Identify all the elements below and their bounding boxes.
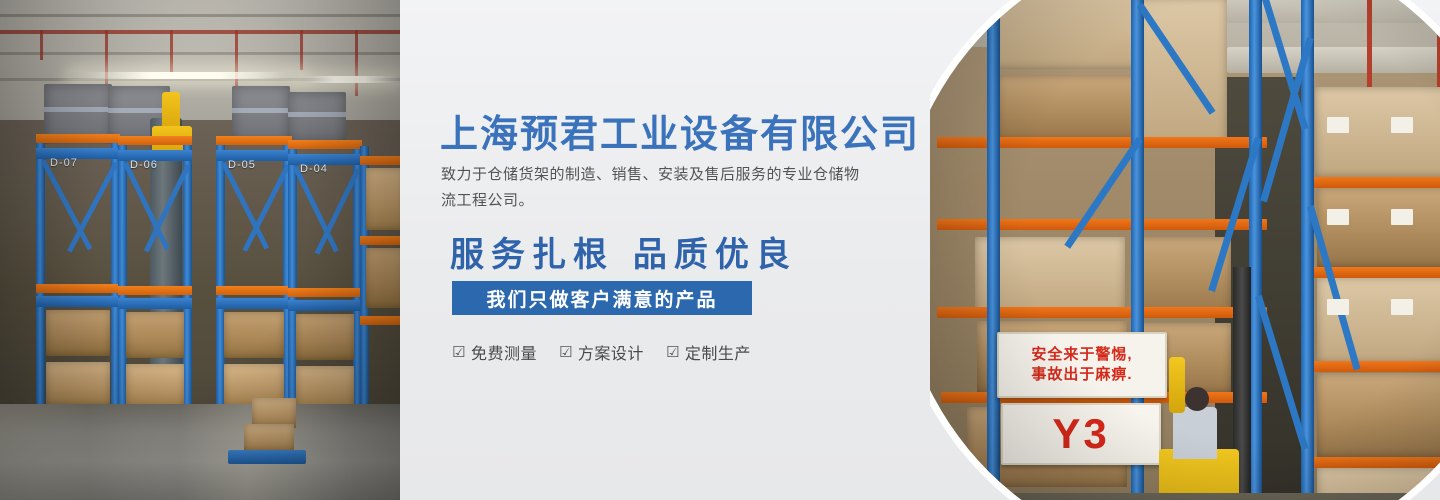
rack-beam [36,284,120,293]
palletized-load [288,92,346,144]
rack-beam [1301,177,1440,188]
cta-button[interactable]: 我们只做客户满意的产品 [452,281,752,315]
operator-head [1185,387,1209,411]
rack-beam [118,298,192,309]
aisle-label: D-06 [130,159,158,171]
rack-bay [360,146,400,446]
promo-banner: D-07 D-06 [0,0,1440,500]
banner-content: 上海预君工业设备有限公司 致力于仓储货架的制造、销售、安装及售后服务的专业仓储物… [440,0,910,500]
carton [224,312,284,358]
sprinkler-pipe [300,30,303,70]
rack-brace [41,160,92,251]
rack-brace [123,162,170,250]
safety-sign-line2: 事故出于麻痹. [1031,365,1132,385]
carton-label [1391,209,1413,225]
feature-label: 免费测量 [471,340,537,364]
rack-brace [293,166,339,253]
rack-brace [221,162,269,250]
rack-beam [288,288,362,297]
sprinkler-pipe [355,30,358,96]
safety-sign: 安全来于警惕, 事故出于麻痹. [997,332,1167,398]
rack-beam [216,286,292,295]
ceiling-beam [0,14,400,17]
carton-stack [244,424,294,452]
carton [997,75,1143,141]
right-warehouse-photo-wrap: 安全来于警惕, 事故出于麻痹. Y3 [930,0,1440,500]
carton [46,310,110,356]
safety-sign-line1: 安全来于警惕, [1031,345,1132,365]
carton [126,312,184,358]
forklift-operator [1173,407,1217,459]
carton [993,0,1143,69]
rack-beam [288,140,362,149]
carton [46,362,110,406]
right-warehouse-photo: 安全来于警惕, 事故出于麻痹. Y3 [930,0,1440,500]
carton [1317,187,1440,267]
carton-label [1327,299,1349,315]
ceiling-beam [0,52,400,55]
rack-beam [216,136,292,145]
sprinkler-rail [0,30,400,34]
rack-beam [1301,361,1440,372]
sprinkler-pipe [40,30,43,60]
aisle-sign: Y3 [1001,403,1161,465]
ceiling-light [300,76,400,83]
aisle-sign-label: Y3 [1052,410,1109,458]
rack-beam [360,156,400,165]
sprinkler-pipe [105,30,108,92]
carton-label [1327,209,1349,225]
rack-beam [360,316,400,325]
forklift-overhead-guard [1169,357,1185,413]
rack-beam [1301,457,1440,468]
floor-reflection [0,404,400,500]
rack-beam [36,148,120,159]
warehouse-floor [930,493,1440,500]
blue-pallet [228,450,306,464]
company-subtitle: 致力于仓储货架的制造、销售、安装及售后服务的专业仓储物流工程公司。 [441,162,861,214]
carton-label [1391,117,1413,133]
checkbox-check-icon: ☑ [452,345,466,360]
rack-beam [118,136,192,145]
feature-item-plan-design: ☑ 方案设计 [559,340,644,364]
rack-beam [360,236,400,245]
checkbox-check-icon: ☑ [666,345,680,360]
company-title: 上海预君工业设备有限公司 [440,103,920,158]
rack-upright [987,0,1000,500]
rack-beam [36,296,120,307]
carton-label [1391,299,1413,315]
sprinkler-pipe [235,30,238,88]
feature-label: 定制生产 [685,340,751,364]
carton [366,168,400,230]
feature-item-free-measure: ☑ 免费测量 [452,340,537,364]
slogan-text: 服务扎根 品质优良 [450,227,797,276]
ceiling-duct [1197,0,1440,23]
carton [1317,373,1440,457]
rack-beam [118,286,192,295]
rack-beam [1301,267,1440,278]
checkbox-check-icon: ☑ [559,345,573,360]
carton [366,248,400,308]
carton [126,364,184,408]
sprinkler-pipe [1367,0,1372,87]
rack-beam [288,300,362,311]
feature-list: ☑ 免费测量 ☑ 方案设计 ☑ 定制生产 [452,340,751,364]
sprinkler-pipe [170,30,173,72]
aisle-label: D-07 [50,157,78,169]
feature-item-custom-production: ☑ 定制生产 [666,340,751,364]
carton-label [1327,117,1349,133]
rack-beam [36,134,120,143]
carton [296,314,354,360]
ceiling-light [70,72,300,79]
feature-label: 方案设计 [578,340,644,364]
rack-beam [216,298,292,309]
aisle-label: D-05 [228,159,256,171]
left-warehouse-photo: D-07 D-06 [0,0,400,500]
aisle-label: D-04 [300,163,328,175]
